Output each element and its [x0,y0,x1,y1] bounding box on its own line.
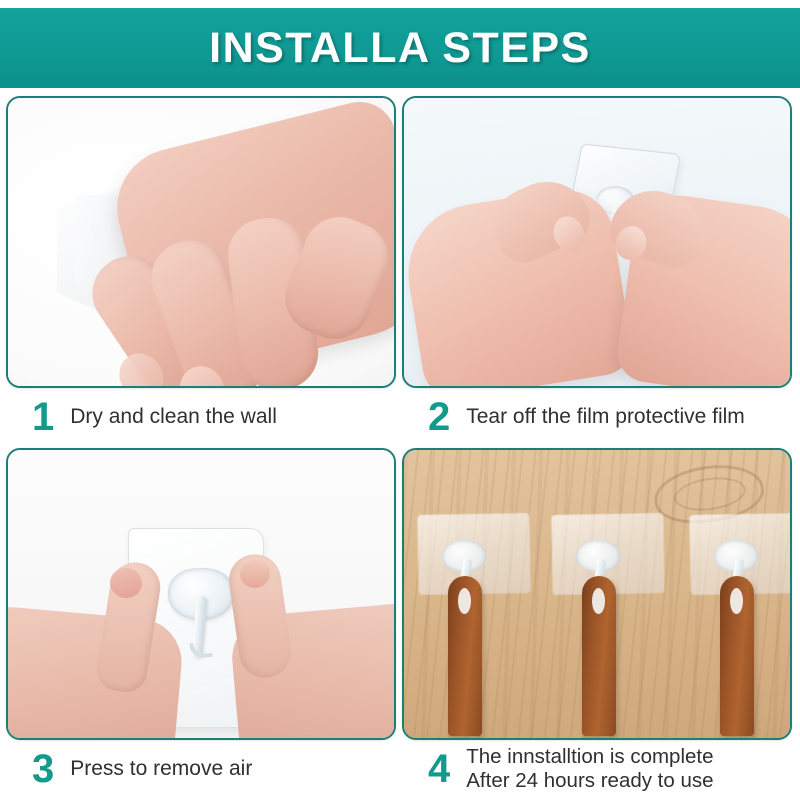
utensil-hang-hole [458,588,471,614]
step-caption-text: Dry and clean the wall [70,405,277,430]
mounted-hook-2 [552,514,664,734]
step-number: 2 [428,397,450,437]
step-card-3: 3 Press to remove air [6,448,396,798]
step-number: 1 [32,397,54,437]
step-3-caption: 3 Press to remove air [6,740,396,798]
mounted-hook-3 [690,514,792,734]
step-card-1: 1 Dry and clean the wall [6,96,396,446]
step-2-photo [402,96,792,388]
left-hand [6,602,185,740]
header-banner: INSTALLA STEPS [0,8,800,88]
steps-grid: 1 Dry and clean the wall 2 [0,96,800,800]
step-3-photo [6,448,396,740]
step-4-photo [402,448,792,740]
step-2-caption: 2 Tear off the film protective film [402,388,792,446]
step-caption-text: Press to remove air [70,757,252,782]
step-4-caption: 4 The innstalltion is complete After 24 … [402,740,792,798]
utensil-hang-hole [592,588,605,614]
step-card-2: 2 Tear off the film protective film [402,96,792,446]
step-1-caption: 1 Dry and clean the wall [6,388,396,446]
installation-steps-infographic: INSTALLA STEPS 1 Dry and clean the [0,0,800,800]
step-caption-text: The innstalltion is complete After 24 ho… [466,745,713,793]
utensil-hang-hole [730,588,743,614]
mounted-hook-1 [418,514,530,734]
step-number: 3 [32,749,54,789]
step-1-photo [6,96,396,388]
step-caption-text: Tear off the film protective film [466,405,745,430]
page-title: INSTALLA STEPS [209,24,591,73]
step-number: 4 [428,749,450,789]
step-card-4: 4 The innstalltion is complete After 24 … [402,448,792,798]
